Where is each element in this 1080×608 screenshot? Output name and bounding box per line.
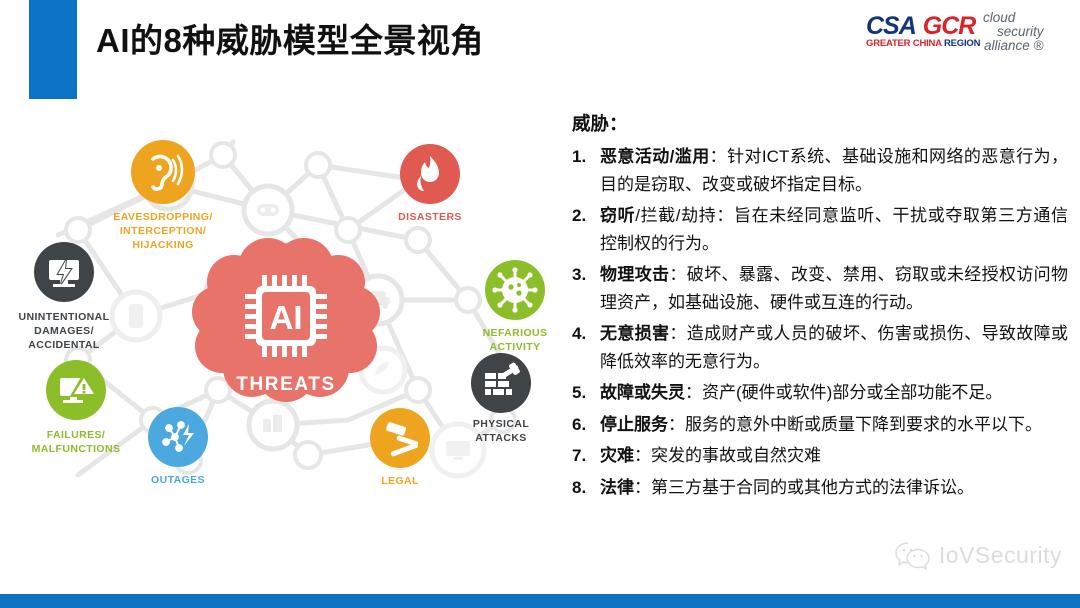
threat-rest: ：破坏、暴露、改变、禁用、窃取或未经授权访问物理资产，如基础设施、硬件或互连的行… [600,265,1068,312]
threat-number: 7. [572,442,600,470]
threat-text: 物理攻击：破坏、暴露、改变、禁用、窃取或未经授权访问物理资产，如基础设施、硬件或… [600,261,1068,316]
svg-text:ACTIVITY: ACTIVITY [489,341,540,353]
logo-csa-text: CSA [866,12,916,41]
threats-heading: 威胁： [572,110,1068,136]
svg-text:LEGAL: LEGAL [381,475,419,487]
svg-text:EAVESDROPPING/: EAVESDROPPING/ [113,211,212,223]
list-item: 6. 停止服务：服务的意外中断或质量下降到要求的水平以下。 [572,411,1068,439]
svg-text:FAILURES/: FAILURES/ [47,429,105,441]
logo-cloud-text: cloud [983,10,1015,25]
threat-text: 故障或失灵：资产(硬件或软件)部分或全部功能不足。 [600,379,1068,407]
node-disasters: DISASTERS [398,144,462,223]
logo-greater-text: GREATER [866,38,910,49]
virus-icon [492,267,537,312]
svg-text:ACCIDENTAL: ACCIDENTAL [28,339,100,351]
list-item: 2. 窃听/拦截/劫持：旨在未经同意监听、干扰或夺取第三方通信控制权的行为。 [572,202,1068,257]
logo-security-text: security [997,24,1044,39]
list-item: 3. 物理攻击：破坏、暴露、改变、禁用、窃取或未经授权访问物理资产，如基础设施、… [572,261,1068,316]
threat-number: 2. [572,202,600,230]
logo-china-text: CHINA [913,38,942,49]
threat-list: 1. 恶意活动/滥用：针对ICT系统、基础设施和网络的恶意行为，目的是窃取、改变… [572,143,1068,501]
threat-number: 4. [572,320,600,348]
threats-panel: 威胁： 1. 恶意活动/滥用：针对ICT系统、基础设施和网络的恶意行为，目的是窃… [572,110,1068,505]
list-item: 5. 故障或失灵：资产(硬件或软件)部分或全部功能不足。 [572,379,1068,407]
threat-number: 5. [572,379,600,407]
slide-root: AI的8种威胁模型全景视角 CSA GCR GREATER CHINA REGI… [0,0,1080,608]
threat-number: 8. [572,474,600,502]
node-eavesdropping: EAVESDROPPING/ INTERCEPTION/ HIJACKING [113,140,212,251]
svg-text:OUTAGES: OUTAGES [151,474,205,486]
node-outages: OUTAGES [148,407,208,486]
threat-bold: 无意损害 [600,324,669,343]
svg-text:DAMAGES/: DAMAGES/ [34,325,94,337]
threat-rest: ：第三方基于合同的或其他方式的法律诉讼。 [634,478,974,497]
csa-gcr-logo: CSA GCR GREATER CHINA REGION cloud secur… [866,12,1062,60]
footer-bar [0,594,1080,608]
list-item: 7. 灾难：突发的事故或自然灾难 [572,442,1068,470]
threat-bold: 故障或失灵 [600,383,685,402]
node-legal: LEGAL [370,408,430,487]
logo-region-line: GREATER CHINA REGION [866,38,980,49]
threat-number: 1. [572,143,600,171]
svg-text:ATTACKS: ATTACKS [475,432,526,444]
watermark-label: IoVSecurity [939,542,1062,569]
logo-wordmark: CSA GCR [866,12,975,41]
threat-text: 法律：第三方基于合同的或其他方式的法律诉讼。 [600,474,1068,502]
svg-text:PHYSICAL: PHYSICAL [473,418,529,430]
threat-text: 窃听/拦截/劫持：旨在未经同意监听、干扰或夺取第三方通信控制权的行为。 [600,202,1068,257]
ai-threats-infographic: AI THREATS EAVESDROPPING/ INTERCEPTION/ … [18,120,558,520]
node-failures-malfunctions: FAILURES/ MALFUNCTIONS [32,360,121,455]
threat-rest: ：造成财产或人员的破坏、伤害或损伤、导致故障或降低效率的无意行为。 [600,324,1068,371]
threat-text: 停止服务：服务的意外中断或质量下降到要求的水平以下。 [600,411,1068,439]
svg-text:HIJACKING: HIJACKING [132,239,193,251]
page-title: AI的8种威胁模型全景视角 [96,14,484,62]
threat-bold: 停止服务 [600,415,668,434]
logo-gcr-text: GCR [923,12,976,41]
svg-text:DISASTERS: DISASTERS [398,211,462,223]
threat-bold: 窃听 [600,206,635,225]
threat-text: 无意损害：造成财产或人员的破坏、伤害或损伤、导致故障或降低效率的无意行为。 [600,320,1068,375]
logo-alliance-text: alliance ® [984,38,1043,53]
threat-text: 恶意活动/滥用：针对ICT系统、基础设施和网络的恶意行为，目的是窃取、改变或破坏… [600,143,1068,198]
threat-number: 6. [572,411,600,439]
ai-threats-label: THREATS [236,374,336,395]
title-accent-bar [29,0,77,99]
threat-bold: 灾难 [600,446,634,465]
ai-chip-label: AI [270,299,303,336]
threat-bold: 恶意活动/滥用 [600,147,710,166]
list-item: 8. 法律：第三方基于合同的或其他方式的法律诉讼。 [572,474,1068,502]
list-item: 1. 恶意活动/滥用：针对ICT系统、基础设施和网络的恶意行为，目的是窃取、改变… [572,143,1068,198]
threat-bold: 法律 [600,478,634,497]
svg-text:UNINTENTIONAL: UNINTENTIONAL [19,311,110,323]
threat-rest: ：资产(硬件或软件)部分或全部功能不足。 [685,383,1002,402]
logo-region-text: REGION [944,38,980,49]
threat-rest: ：服务的意外中断或质量下降到要求的水平以下。 [668,415,1042,434]
threat-text: 灾难：突发的事故或自然灾难 [600,442,1068,470]
threat-number: 3. [572,261,600,289]
threat-mid: /拦截/劫持 [635,206,716,225]
svg-text:MALFUNCTIONS: MALFUNCTIONS [32,443,121,455]
threat-rest: ：突发的事故或自然灾难 [634,446,821,465]
list-item: 4. 无意损害：造成财产或人员的破坏、伤害或损伤、导致故障或降低效率的无意行为。 [572,320,1068,375]
threat-bold: 物理攻击 [600,265,669,284]
wechat-icon [895,540,931,570]
watermark: IoVSecurity [895,540,1062,570]
svg-text:NEFARIOUS: NEFARIOUS [483,327,548,339]
svg-text:INTERCEPTION/: INTERCEPTION/ [120,225,206,237]
